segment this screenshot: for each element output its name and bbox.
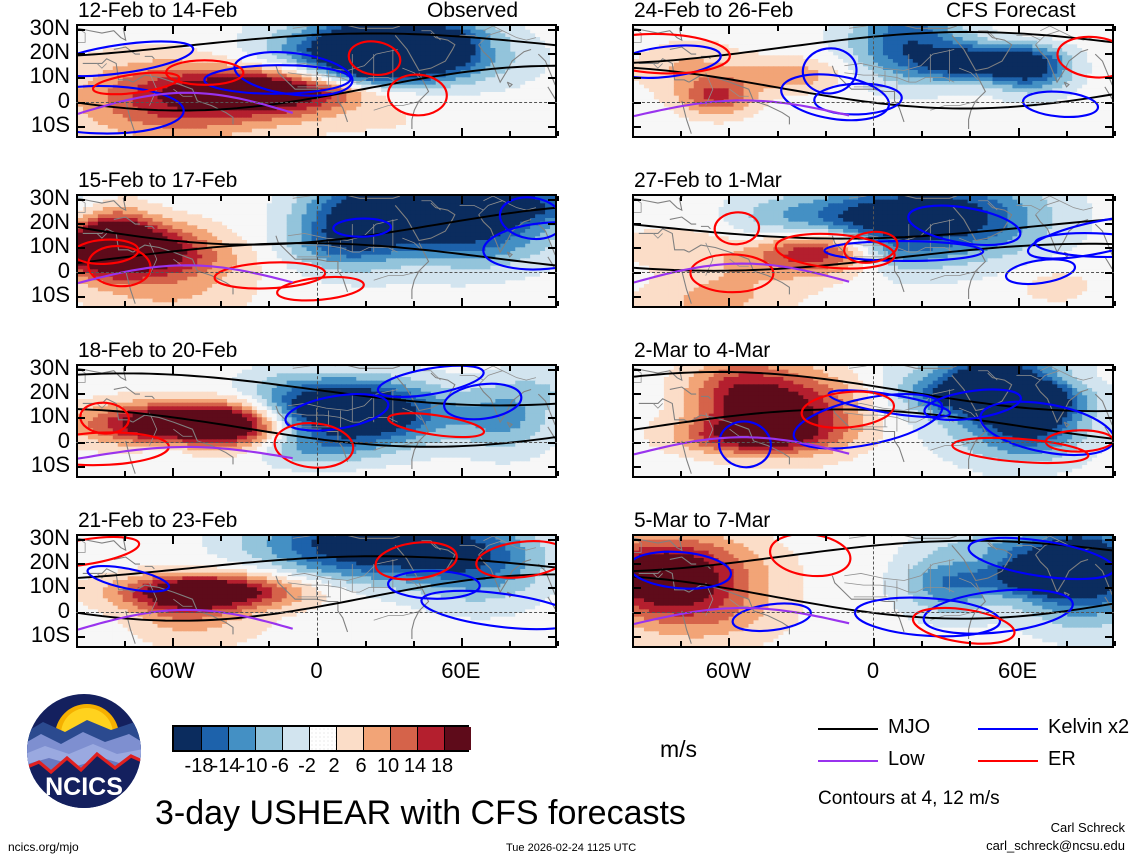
y-axis-label: 10S — [0, 622, 70, 648]
x-axis-tick — [680, 26, 682, 31]
y-axis-tick — [548, 247, 555, 249]
x-axis-tick — [124, 301, 126, 306]
y-axis-tick — [548, 466, 555, 468]
panel-title: 18-Feb to 20-Feb — [78, 339, 237, 363]
x-axis-tick — [825, 301, 827, 306]
x-axis-tick — [1114, 366, 1116, 371]
x-axis-tick — [172, 638, 174, 646]
x-axis-tick — [220, 301, 222, 306]
contour-note: Contours at 4, 12 m/s — [818, 788, 1000, 810]
y-axis-tick — [78, 393, 85, 395]
x-axis-tick — [728, 196, 730, 204]
x-axis-tick — [220, 471, 222, 476]
prime-meridian-line — [317, 366, 318, 476]
y-axis-tick — [548, 563, 555, 565]
y-axis-label: 30N — [0, 185, 70, 211]
column-header-observed: Observed — [427, 0, 518, 23]
x-axis-tick — [777, 131, 779, 136]
y-axis-label: 0 — [0, 598, 70, 624]
x-axis-tick — [1018, 536, 1020, 544]
x-axis-tick — [728, 536, 730, 544]
x-axis-tick — [873, 196, 875, 204]
x-axis-tick — [317, 366, 319, 374]
x-axis-tick — [921, 26, 923, 31]
x-axis-tick — [728, 366, 730, 374]
x-axis-tick — [268, 131, 270, 136]
x-axis-tick — [921, 131, 923, 136]
x-axis-tick — [728, 128, 730, 136]
x-axis-tick — [461, 196, 463, 204]
x-axis-tick — [728, 298, 730, 306]
x-axis-tick — [172, 26, 174, 34]
x-axis-tick — [680, 471, 682, 476]
x-axis-tick — [632, 26, 634, 31]
x-axis-tick — [777, 536, 779, 541]
legend-label: ER — [1048, 748, 1076, 771]
y-axis-tick — [78, 223, 85, 225]
y-axis-label: 10S — [0, 282, 70, 308]
panel-title: 24-Feb to 26-Feb — [634, 0, 793, 23]
x-axis-tick — [317, 536, 319, 544]
x-axis-tick — [825, 131, 827, 136]
y-axis-tick — [1105, 417, 1112, 419]
y-axis-tick — [1105, 612, 1112, 614]
y-axis-tick — [548, 102, 555, 104]
x-axis-tick — [921, 366, 923, 371]
y-axis-tick — [1105, 29, 1112, 31]
x-axis-tick — [509, 131, 511, 136]
x-axis-tick — [461, 298, 463, 306]
x-axis-tick — [172, 468, 174, 476]
x-axis-tick — [557, 131, 559, 136]
panel-title: 21-Feb to 23-Feb — [78, 509, 237, 533]
y-axis-tick — [634, 126, 641, 128]
colorbar-segment — [174, 727, 201, 750]
x-axis-tick — [632, 536, 634, 541]
x-axis-tick — [1066, 301, 1068, 306]
x-axis-tick — [124, 26, 126, 31]
y-axis-label: 30N — [0, 525, 70, 551]
x-axis-tick — [632, 301, 634, 306]
x-axis-tick — [365, 536, 367, 541]
x-axis-tick — [317, 638, 319, 646]
y-axis-tick — [78, 442, 85, 444]
colorbar-tick-label: 18 — [412, 755, 472, 778]
panel-title: 12-Feb to 14-Feb — [78, 0, 237, 23]
colorbar — [172, 725, 469, 752]
x-axis-tick — [124, 471, 126, 476]
x-axis-tick — [317, 298, 319, 306]
x-axis-tick — [461, 536, 463, 544]
x-axis-tick — [680, 301, 682, 306]
x-axis-tick — [921, 536, 923, 541]
y-axis-tick — [634, 29, 641, 31]
y-axis-tick — [1105, 247, 1112, 249]
x-axis-tick — [509, 366, 511, 371]
x-axis-tick — [969, 366, 971, 371]
x-axis-label: 60E — [990, 658, 1046, 684]
y-axis-tick — [1105, 77, 1112, 79]
x-axis-tick — [76, 366, 78, 371]
x-axis-tick — [873, 638, 875, 646]
x-axis-label: 60W — [700, 658, 756, 684]
x-axis-tick — [76, 131, 78, 136]
x-axis-tick — [124, 536, 126, 541]
x-axis-tick — [921, 471, 923, 476]
x-axis-tick — [413, 131, 415, 136]
x-axis-tick — [873, 128, 875, 136]
y-axis-label: 10N — [0, 573, 70, 599]
x-axis-tick — [825, 366, 827, 371]
y-axis-tick — [548, 417, 555, 419]
x-axis-tick — [509, 26, 511, 31]
legend-label: Kelvin x2 — [1048, 716, 1129, 739]
x-axis-tick — [777, 301, 779, 306]
panel-title: 5-Mar to 7-Mar — [634, 509, 770, 533]
y-axis-tick — [1105, 296, 1112, 298]
colorbar-segment — [336, 727, 363, 750]
y-axis-tick — [634, 393, 641, 395]
x-axis-tick — [1066, 131, 1068, 136]
x-axis-tick — [1114, 301, 1116, 306]
y-axis-tick — [1105, 466, 1112, 468]
y-axis-label: 10N — [0, 233, 70, 259]
x-axis-tick — [317, 26, 319, 34]
x-axis-tick — [268, 301, 270, 306]
x-axis-tick — [365, 366, 367, 371]
y-axis-tick — [548, 393, 555, 395]
footer-email[interactable]: carl_schreck@ncsu.edu — [986, 838, 1125, 853]
panel-title: 15-Feb to 17-Feb — [78, 169, 237, 193]
y-axis-tick — [634, 539, 641, 541]
y-axis-tick — [78, 296, 85, 298]
x-axis-tick — [557, 26, 559, 31]
y-axis-tick — [1105, 102, 1112, 104]
x-axis-tick — [172, 196, 174, 204]
x-axis-tick — [220, 26, 222, 31]
x-axis-tick — [1114, 196, 1116, 201]
y-axis-tick — [78, 199, 85, 201]
y-axis-label: 10N — [0, 63, 70, 89]
x-axis-tick — [557, 536, 559, 541]
x-axis-tick — [1066, 26, 1068, 31]
y-axis-tick — [1105, 393, 1112, 395]
x-axis-tick — [969, 131, 971, 136]
x-axis-tick — [76, 471, 78, 476]
y-axis-label: 30N — [0, 355, 70, 381]
colorbar-segment — [255, 727, 282, 750]
y-axis-tick — [78, 587, 85, 589]
colorbar-segment — [417, 727, 444, 750]
x-axis-tick — [76, 196, 78, 201]
footer-author: Carl Schreck — [1051, 820, 1125, 835]
x-axis-tick — [124, 641, 126, 646]
y-axis-tick — [78, 126, 85, 128]
legend-line-swatch — [978, 760, 1038, 762]
y-axis-tick — [1105, 636, 1112, 638]
x-axis-tick — [557, 471, 559, 476]
x-axis-tick — [921, 641, 923, 646]
x-axis-tick — [124, 196, 126, 201]
x-axis-tick — [969, 26, 971, 31]
x-axis-tick — [509, 196, 511, 201]
x-axis-tick — [509, 301, 511, 306]
y-axis-tick — [548, 612, 555, 614]
x-axis-tick — [365, 131, 367, 136]
x-axis-tick — [461, 468, 463, 476]
x-axis-tick — [1018, 298, 1020, 306]
x-axis-tick — [1018, 468, 1020, 476]
x-axis-tick — [825, 471, 827, 476]
x-axis-tick — [632, 131, 634, 136]
y-axis-label: 30N — [0, 15, 70, 41]
x-axis-tick — [509, 536, 511, 541]
y-axis-tick — [548, 126, 555, 128]
x-axis-tick — [680, 536, 682, 541]
x-axis-tick — [413, 301, 415, 306]
x-axis-tick — [777, 366, 779, 371]
y-axis-tick — [78, 466, 85, 468]
x-axis-tick — [1114, 26, 1116, 31]
x-axis-tick — [172, 366, 174, 374]
x-axis-tick — [1018, 26, 1020, 34]
x-axis-tick — [124, 131, 126, 136]
ncics-logo: NCICS — [25, 692, 143, 810]
x-axis-tick — [680, 196, 682, 201]
y-axis-tick — [634, 369, 641, 371]
x-axis-tick — [220, 536, 222, 541]
x-axis-tick — [1066, 536, 1068, 541]
legend-label: Low — [888, 748, 925, 771]
x-axis-tick — [220, 196, 222, 201]
colorbar-units: m/s — [660, 736, 697, 763]
x-axis-tick — [365, 471, 367, 476]
y-axis-tick — [1105, 199, 1112, 201]
colorbar-segment — [228, 727, 255, 750]
y-axis-tick — [548, 587, 555, 589]
y-axis-tick — [548, 29, 555, 31]
x-axis-tick — [825, 196, 827, 201]
x-axis-tick — [873, 536, 875, 544]
x-axis-tick — [632, 196, 634, 201]
x-axis-tick — [172, 128, 174, 136]
y-axis-tick — [1105, 126, 1112, 128]
x-axis-tick — [557, 641, 559, 646]
x-axis-tick — [1066, 641, 1068, 646]
y-axis-tick — [1105, 272, 1112, 274]
x-axis-tick — [728, 26, 730, 34]
y-axis-tick — [634, 77, 641, 79]
x-axis-tick — [873, 26, 875, 34]
y-axis-tick — [634, 636, 641, 638]
y-axis-tick — [548, 53, 555, 55]
x-axis-tick — [969, 536, 971, 541]
x-axis-tick — [413, 26, 415, 31]
legend-label: MJO — [888, 716, 930, 739]
x-axis-tick — [365, 641, 367, 646]
y-axis-label: 0 — [0, 258, 70, 284]
x-axis-tick — [1114, 536, 1116, 541]
x-axis-tick — [969, 641, 971, 646]
y-axis-tick — [634, 563, 641, 565]
x-axis-tick — [1114, 641, 1116, 646]
x-axis-tick — [268, 196, 270, 201]
x-axis-tick — [1114, 471, 1116, 476]
x-axis-tick — [317, 468, 319, 476]
x-axis-tick — [777, 196, 779, 201]
y-axis-tick — [78, 417, 85, 419]
prime-meridian-line — [873, 536, 874, 646]
column-header-forecast: CFS Forecast — [946, 0, 1076, 23]
y-axis-tick — [1105, 587, 1112, 589]
y-axis-tick — [78, 102, 85, 104]
x-axis-tick — [632, 366, 634, 371]
y-axis-tick — [548, 272, 555, 274]
legend-line-swatch — [818, 728, 878, 730]
y-axis-tick — [78, 272, 85, 274]
x-axis-label: 60E — [433, 658, 489, 684]
y-axis-tick — [1105, 223, 1112, 225]
colorbar-segment — [390, 727, 417, 750]
footer-timestamp: Tue 2026-02-24 1125 UTC — [506, 842, 636, 854]
y-axis-tick — [1105, 563, 1112, 565]
x-axis-tick — [461, 638, 463, 646]
x-axis-tick — [728, 638, 730, 646]
y-axis-tick — [634, 53, 641, 55]
y-axis-tick — [548, 442, 555, 444]
x-axis-tick — [365, 301, 367, 306]
y-axis-tick — [78, 636, 85, 638]
y-axis-tick — [634, 442, 641, 444]
panel-title: 27-Feb to 1-Mar — [634, 169, 782, 193]
y-axis-tick — [634, 199, 641, 201]
y-axis-tick — [548, 77, 555, 79]
legend-line-swatch — [978, 728, 1038, 730]
x-axis-tick — [969, 471, 971, 476]
x-axis-tick — [413, 196, 415, 201]
y-axis-tick — [78, 539, 85, 541]
x-axis-tick — [268, 26, 270, 31]
x-axis-tick — [268, 641, 270, 646]
prime-meridian-line — [317, 536, 318, 646]
y-axis-tick — [634, 272, 641, 274]
prime-meridian-line — [873, 26, 874, 136]
y-axis-label: 10N — [0, 403, 70, 429]
logo-label: NCICS — [45, 773, 123, 801]
x-axis-tick — [172, 298, 174, 306]
x-axis-tick — [76, 26, 78, 31]
x-axis-tick — [1114, 131, 1116, 136]
y-axis-tick — [634, 223, 641, 225]
y-axis-tick — [548, 199, 555, 201]
x-axis-tick — [413, 471, 415, 476]
y-axis-tick — [634, 296, 641, 298]
x-axis-tick — [413, 366, 415, 371]
x-axis-tick — [680, 131, 682, 136]
legend-line-swatch — [818, 760, 878, 762]
x-axis-tick — [1066, 196, 1068, 201]
x-axis-tick — [220, 366, 222, 371]
panel-title: 2-Mar to 4-Mar — [634, 339, 770, 363]
y-axis-tick — [548, 636, 555, 638]
y-axis-tick — [548, 296, 555, 298]
y-axis-tick — [78, 369, 85, 371]
x-axis-label: 0 — [289, 658, 345, 684]
x-axis-tick — [172, 536, 174, 544]
x-axis-tick — [317, 128, 319, 136]
x-axis-tick — [680, 366, 682, 371]
x-axis-tick — [268, 536, 270, 541]
x-axis-tick — [509, 471, 511, 476]
y-axis-tick — [78, 53, 85, 55]
x-axis-tick — [413, 536, 415, 541]
x-axis-tick — [268, 366, 270, 371]
x-axis-tick — [777, 26, 779, 31]
figure-title: 3-day USHEAR with CFS forecasts — [155, 794, 686, 833]
x-axis-label: 60W — [144, 658, 200, 684]
y-axis-tick — [548, 539, 555, 541]
x-axis-tick — [921, 196, 923, 201]
x-axis-tick — [461, 366, 463, 374]
x-axis-tick — [873, 298, 875, 306]
x-axis-tick — [825, 26, 827, 31]
y-axis-tick — [1105, 442, 1112, 444]
x-axis-tick — [873, 468, 875, 476]
y-axis-tick — [634, 587, 641, 589]
y-axis-tick — [78, 247, 85, 249]
x-axis-tick — [557, 196, 559, 201]
y-axis-tick — [78, 612, 85, 614]
y-axis-tick — [634, 466, 641, 468]
colorbar-segment — [201, 727, 228, 750]
x-axis-tick — [777, 641, 779, 646]
x-axis-tick — [220, 641, 222, 646]
y-axis-tick — [634, 247, 641, 249]
x-axis-tick — [413, 641, 415, 646]
x-axis-tick — [76, 641, 78, 646]
prime-meridian-line — [873, 196, 874, 306]
x-axis-tick — [1066, 366, 1068, 371]
prime-meridian-line — [873, 366, 874, 476]
y-axis-label: 10S — [0, 112, 70, 138]
colorbar-segment — [309, 727, 336, 750]
y-axis-tick — [1105, 53, 1112, 55]
x-axis-tick — [557, 301, 559, 306]
y-axis-tick — [634, 417, 641, 419]
x-axis-tick — [76, 536, 78, 541]
x-axis-tick — [632, 471, 634, 476]
x-axis-tick — [921, 301, 923, 306]
y-axis-tick — [634, 612, 641, 614]
y-axis-tick — [634, 102, 641, 104]
x-axis-tick — [1018, 366, 1020, 374]
x-axis-tick — [268, 471, 270, 476]
x-axis-tick — [461, 26, 463, 34]
y-axis-label: 0 — [0, 88, 70, 114]
x-axis-tick — [1018, 128, 1020, 136]
footer-site[interactable]: ncics.org/mjo — [8, 840, 79, 854]
prime-meridian-line — [317, 26, 318, 136]
x-axis-tick — [317, 196, 319, 204]
y-axis-tick — [1105, 539, 1112, 541]
colorbar-segment — [363, 727, 390, 750]
x-axis-tick — [873, 366, 875, 374]
x-axis-tick — [461, 128, 463, 136]
x-axis-tick — [365, 26, 367, 31]
y-axis-tick — [78, 563, 85, 565]
y-axis-label: 0 — [0, 428, 70, 454]
y-axis-label: 20N — [0, 209, 70, 235]
